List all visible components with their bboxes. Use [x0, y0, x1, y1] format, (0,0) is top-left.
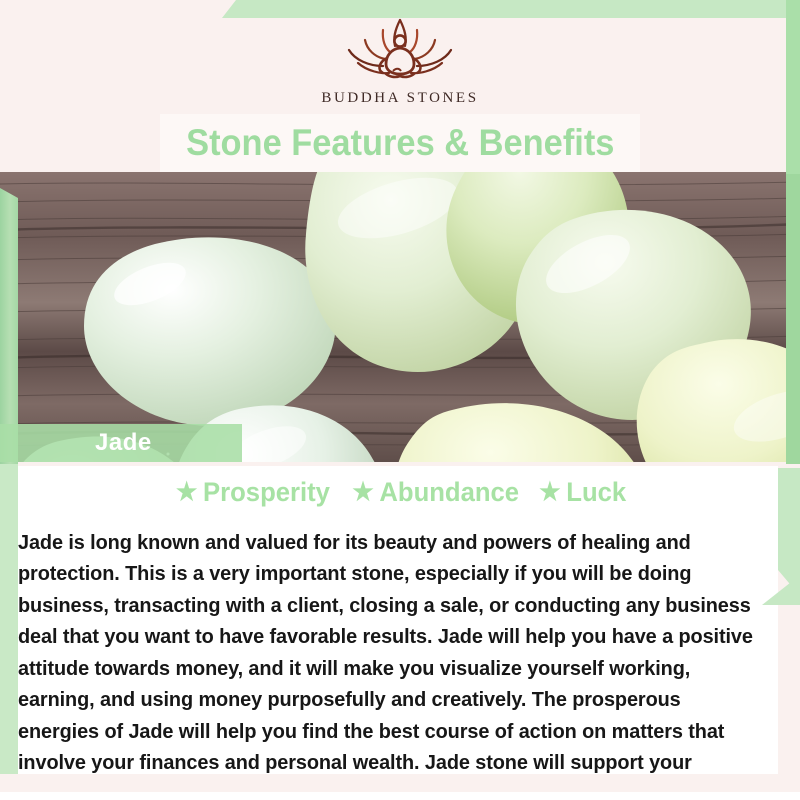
stone-name-band: Jade — [0, 424, 242, 462]
stone-info-card: BUDDHA STONES Stone Features & Benefits — [0, 0, 800, 800]
description-text: Jade is long known and valued for its be… — [18, 527, 759, 800]
bottom-white-edge — [0, 792, 800, 800]
description-panel: Jade is long known and valued for its be… — [18, 506, 782, 800]
benefit-item: ★ Prosperity — [176, 477, 330, 508]
brand-name: BUDDHA STONES — [321, 90, 478, 107]
title-banner: Stone Features & Benefits — [160, 114, 640, 172]
benefit-label: Abundance — [379, 477, 519, 508]
decorative-green-right-middle — [786, 174, 800, 464]
benefit-label: Luck — [566, 477, 626, 508]
benefit-item: ★ Abundance — [352, 477, 519, 508]
brand-header: BUDDHA STONES — [0, 16, 800, 116]
decorative-green-left-strip — [0, 188, 18, 464]
star-icon: ★ — [176, 480, 197, 505]
star-icon: ★ — [352, 480, 373, 505]
lotus-meditation-figure-icon — [325, 16, 475, 88]
stone-name-label: Jade — [95, 429, 152, 457]
benefits-row: ★ Prosperity ★ Abundance ★ Luck — [0, 475, 800, 509]
benefit-label: Prosperity — [203, 477, 330, 508]
photo-illustration — [0, 172, 800, 462]
benefit-item: ★ Luck — [539, 477, 626, 508]
stone-photo — [0, 172, 800, 462]
page-title: Stone Features & Benefits — [186, 122, 614, 164]
decorative-green-left-lower — [0, 464, 18, 774]
star-icon: ★ — [539, 480, 560, 505]
